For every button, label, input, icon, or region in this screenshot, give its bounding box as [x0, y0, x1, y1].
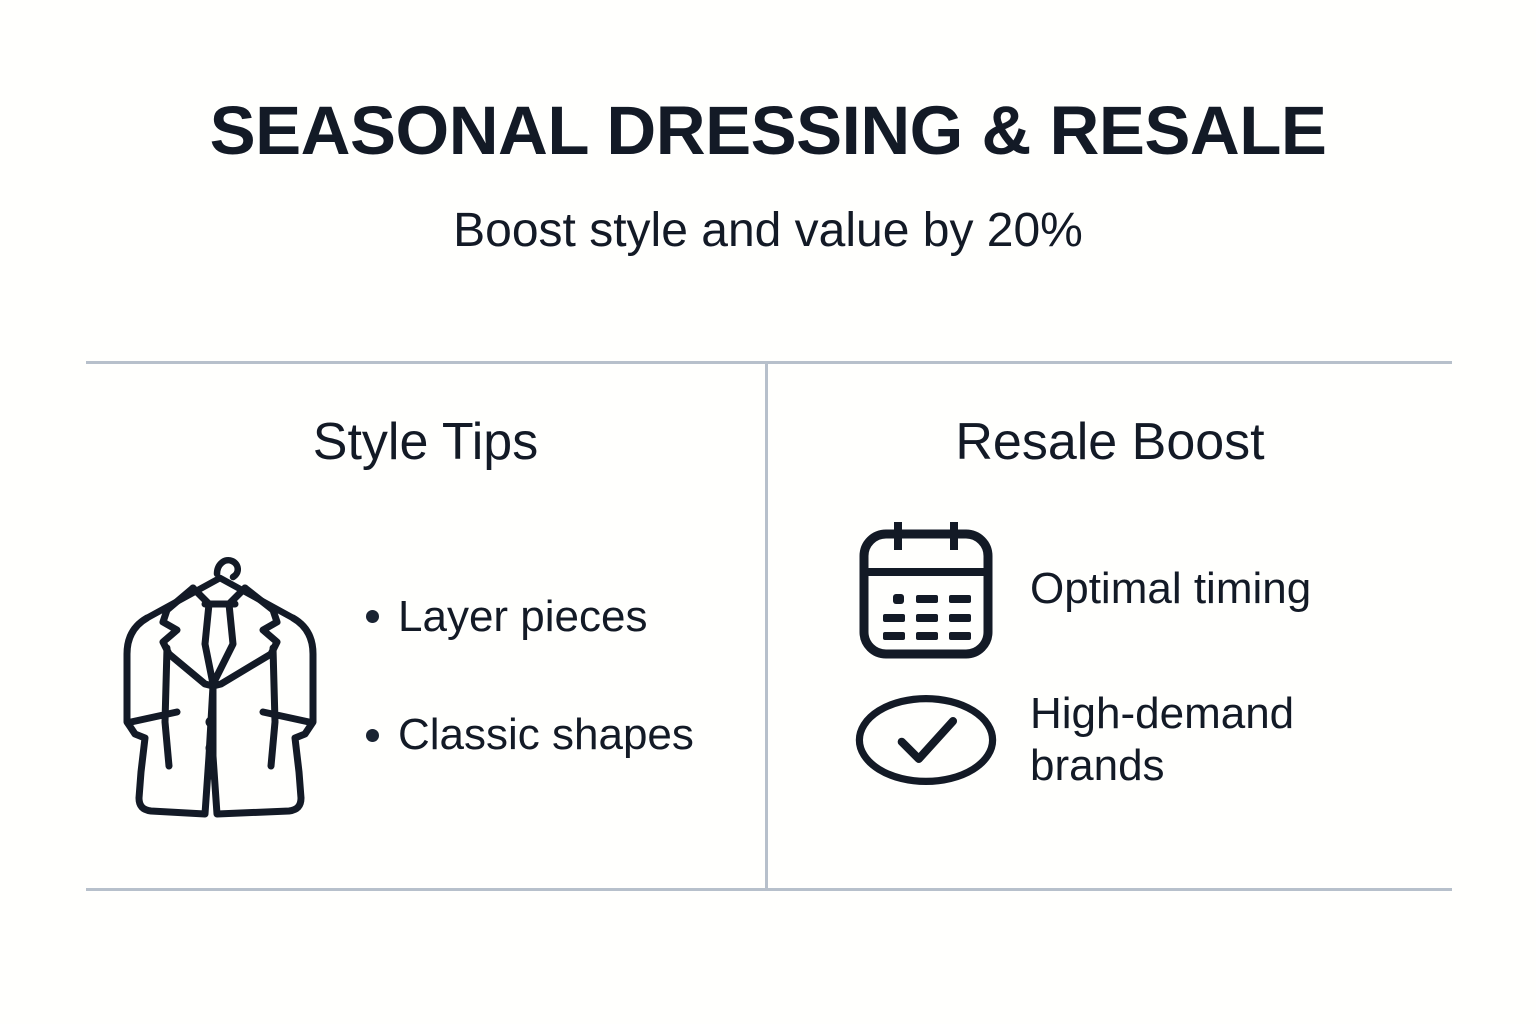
list-item[interactable]: Optimal timing	[854, 516, 1452, 662]
list-item-label: Classic shapes	[398, 712, 694, 758]
list-item-label: Optimal timing	[1030, 563, 1311, 615]
panel-heading-resale-boost: Resale Boost	[768, 416, 1452, 468]
style-tips-list: Layer pieces Classic shapes	[354, 594, 765, 758]
panel-style-tips: Style Tips	[86, 361, 765, 891]
list-item-label: High-demand brands	[1030, 688, 1400, 792]
list-item[interactable]: Classic shapes	[366, 712, 765, 758]
calendar-glyph	[854, 516, 998, 662]
coat-on-hanger-icon	[86, 526, 354, 826]
header-block: SEASONAL DRESSING & RESALE Boost style a…	[0, 96, 1536, 255]
panel-resale-boost: Resale Boost	[768, 361, 1452, 891]
infographic-canvas: SEASONAL DRESSING & RESALE Boost style a…	[0, 0, 1536, 1024]
bullet-dot-icon	[366, 610, 379, 623]
list-item-label: Layer pieces	[398, 594, 647, 640]
page-subtitle: Boost style and value by 20%	[0, 207, 1536, 255]
list-item[interactable]: High-demand brands	[854, 688, 1452, 792]
page-title: SEASONAL DRESSING & RESALE	[0, 96, 1536, 165]
bullet-dot-icon	[366, 729, 379, 742]
panel-heading-style-tips: Style Tips	[86, 416, 765, 468]
check-circle-icon	[854, 688, 998, 792]
coat-on-hanger-glyph	[105, 526, 335, 826]
resale-boost-body: Optimal timing High-demand brands	[768, 516, 1452, 841]
style-tips-body: Layer pieces Classic shapes	[86, 511, 765, 841]
list-item[interactable]: Layer pieces	[366, 594, 765, 640]
check-ellipse-glyph	[854, 688, 998, 792]
calendar-icon	[854, 516, 998, 662]
